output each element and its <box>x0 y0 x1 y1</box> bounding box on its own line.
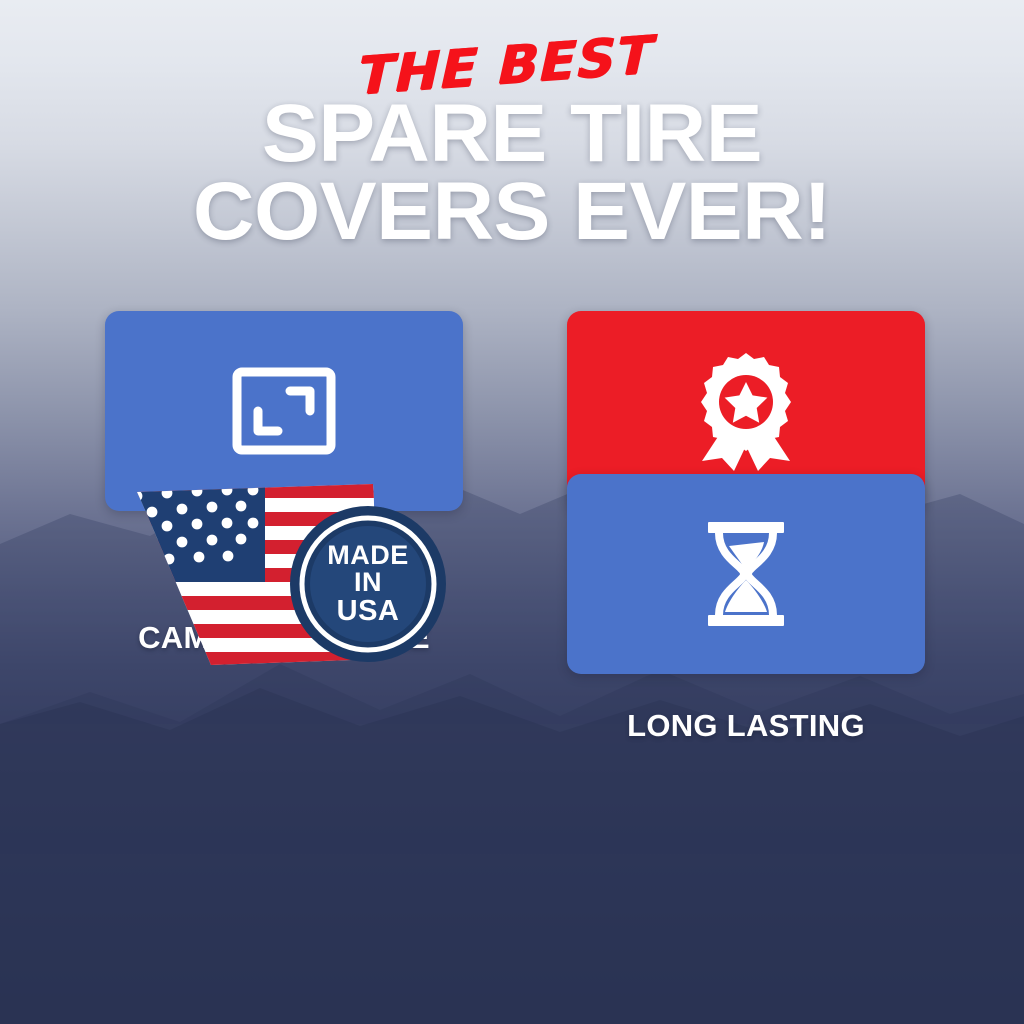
made-in-usa-graphic: MADE IN USA <box>105 474 463 674</box>
headline-line-1: SPARE TIRE <box>0 94 1024 174</box>
headline-line-2: COVERS EVER! <box>0 172 1024 252</box>
promo-poster: THE BEST SPARE TIRE COVERS EVER! FITS JE… <box>0 0 1024 1024</box>
headline-kicker: THE BEST <box>0 2 1023 130</box>
hourglass-icon <box>704 520 788 628</box>
feature-grid: FITS JEEP, RV, BRONCO, CAMPERS & MORE <box>0 311 1024 474</box>
award-ribbon-icon <box>694 351 798 471</box>
caption-line-1: LONG LASTING <box>627 708 865 743</box>
feature-card-blue <box>567 474 925 674</box>
fit-frame-icon <box>230 365 338 457</box>
feature-caption: LONG LASTING <box>567 708 925 745</box>
feature-made-in-usa: MADE IN USA <box>105 474 463 674</box>
headline-block: THE BEST SPARE TIRE COVERS EVER! <box>0 40 1024 253</box>
made-in-usa-badge-icon <box>288 504 448 664</box>
feature-long-lasting: LONG LASTING <box>567 474 925 745</box>
